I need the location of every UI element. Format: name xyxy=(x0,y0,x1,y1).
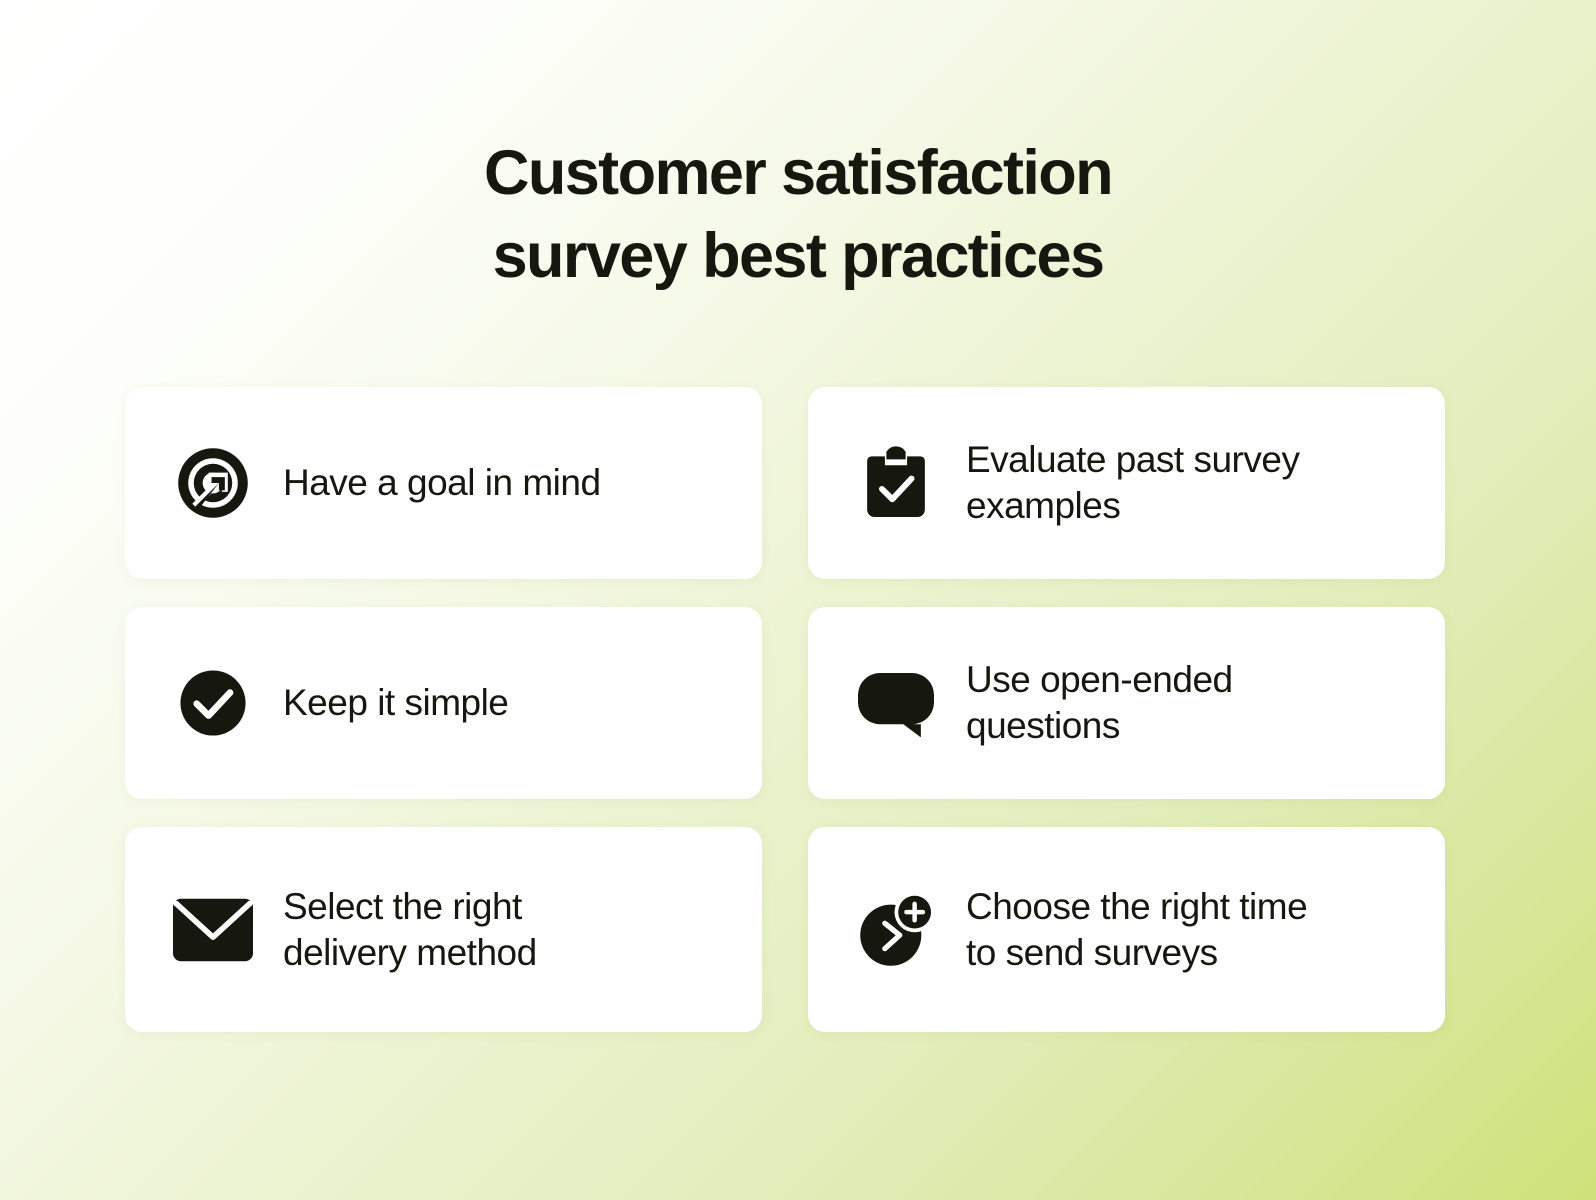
speech-bubble-icon xyxy=(856,663,936,743)
card-label: Evaluate past survey examples xyxy=(966,437,1299,529)
card-evaluate-past-surveys[interactable]: Evaluate past survey examples xyxy=(808,387,1445,579)
card-label: Keep it simple xyxy=(283,680,508,726)
clipboard-check-icon xyxy=(856,443,936,523)
clock-plus-icon xyxy=(856,890,936,970)
card-choose-right-time[interactable]: Choose the right time to send surveys xyxy=(808,827,1445,1032)
best-practices-grid: Have a goal in mind Evaluate past survey… xyxy=(125,387,1445,1032)
card-have-a-goal-in-mind[interactable]: Have a goal in mind xyxy=(125,387,762,579)
card-label: Use open-ended questions xyxy=(966,657,1233,749)
card-keep-it-simple[interactable]: Keep it simple xyxy=(125,607,762,799)
page-title: Customer satisfaction survey best practi… xyxy=(0,132,1596,298)
card-use-open-ended-questions[interactable]: Use open-ended questions xyxy=(808,607,1445,799)
card-select-delivery-method[interactable]: Select the right delivery method xyxy=(125,827,762,1032)
card-label: Have a goal in mind xyxy=(283,460,601,506)
card-label: Choose the right time to send surveys xyxy=(966,884,1307,976)
target-arrow-icon xyxy=(173,443,253,523)
envelope-icon xyxy=(173,890,253,970)
card-label: Select the right delivery method xyxy=(283,884,537,976)
check-circle-icon xyxy=(173,663,253,743)
